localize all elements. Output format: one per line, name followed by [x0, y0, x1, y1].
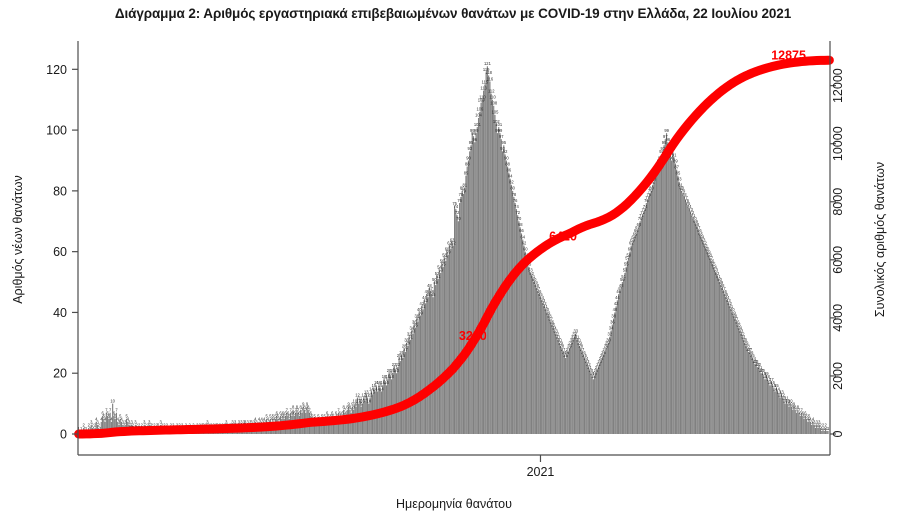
bar-value-label: 88	[505, 161, 510, 166]
bar	[721, 288, 722, 434]
bar	[475, 133, 476, 434]
bar	[430, 291, 431, 434]
bar	[518, 221, 519, 434]
bar	[715, 273, 716, 434]
bar	[603, 355, 604, 434]
bar	[405, 352, 406, 434]
bar-value-label: 33	[573, 329, 578, 334]
bar	[563, 352, 564, 434]
bar	[751, 355, 752, 434]
bar-value-label: 72	[515, 210, 520, 215]
bar-value-label: 34	[609, 325, 614, 330]
bar	[400, 361, 401, 434]
bar	[740, 334, 741, 434]
y-axis-right-tick-label: 10000	[831, 126, 845, 161]
bar	[629, 252, 630, 434]
bar-value-label: 60	[523, 246, 528, 251]
bar	[465, 176, 466, 434]
y-axis-left-tick-label: 80	[53, 184, 67, 198]
bar	[545, 309, 546, 434]
bar	[599, 364, 600, 434]
bar	[616, 306, 617, 434]
bar	[407, 346, 408, 434]
bar	[478, 118, 479, 434]
bar	[411, 331, 412, 434]
bar-value-label: 80	[649, 186, 654, 191]
y-axis-right-title-text: Συνολικός αριθμός θανάτων	[873, 162, 887, 317]
bar	[686, 203, 687, 434]
bar	[581, 352, 582, 434]
bar-value-label: 91	[672, 152, 677, 157]
bar	[720, 285, 721, 434]
bar	[739, 331, 740, 434]
bar-value-label: 81	[462, 183, 467, 188]
bar	[460, 197, 461, 434]
bar-value-label: 82	[509, 180, 514, 185]
bar	[551, 325, 552, 434]
bar	[451, 243, 452, 434]
bar	[531, 276, 532, 434]
bar	[792, 410, 793, 434]
bar-value-label: 16	[384, 380, 389, 385]
bar-value-label: 84	[508, 174, 513, 179]
bar	[613, 319, 614, 434]
bar	[627, 261, 628, 434]
bar	[580, 349, 581, 434]
bar	[762, 373, 763, 434]
bar-value-label: 85	[676, 170, 681, 175]
bar	[516, 209, 517, 434]
bar	[612, 325, 613, 434]
bar	[617, 300, 618, 434]
bar-value-label: 113	[480, 85, 487, 90]
bar-value-label: 104	[475, 113, 483, 118]
bar	[778, 394, 779, 434]
bar	[576, 340, 577, 434]
bar	[426, 294, 427, 434]
bar	[537, 291, 538, 434]
bar	[684, 197, 685, 434]
bar	[429, 288, 430, 434]
bar	[417, 322, 418, 434]
bar	[680, 188, 681, 434]
bar	[497, 133, 498, 434]
bar-value-label: 62	[451, 240, 456, 245]
bar	[446, 252, 447, 434]
bar	[685, 200, 686, 434]
bar	[776, 388, 777, 434]
bar	[590, 373, 591, 434]
bar-value-label: 38	[611, 313, 616, 318]
bar	[477, 127, 478, 434]
bar-value-label: 48	[619, 283, 624, 288]
bar	[701, 240, 702, 435]
bar	[679, 182, 680, 434]
bar	[667, 142, 668, 434]
bar	[772, 385, 773, 434]
bar	[633, 240, 634, 435]
bar	[708, 255, 709, 434]
x-axis-tick-label: 2021	[527, 465, 555, 479]
bar	[571, 343, 572, 434]
bar	[745, 346, 746, 434]
bar	[444, 258, 445, 434]
bar	[656, 173, 657, 434]
bar-value-label: 110	[479, 95, 486, 100]
bar	[459, 203, 460, 434]
bar	[390, 376, 391, 434]
bar	[453, 246, 454, 434]
bar-value-label: 80	[510, 186, 515, 191]
bar	[764, 379, 765, 434]
bar	[431, 294, 432, 434]
bar-value-label: 53	[623, 268, 628, 273]
bar-value-label: 79	[461, 189, 466, 194]
bar	[570, 346, 571, 434]
bar	[609, 337, 610, 434]
bar	[827, 431, 828, 434]
bar	[780, 398, 781, 434]
y-axis-left-tick-label: 40	[53, 306, 67, 320]
bar	[733, 315, 734, 434]
bar	[530, 273, 531, 434]
bar	[608, 343, 609, 434]
bar	[320, 425, 321, 434]
bar-value-label: 101	[495, 122, 503, 127]
bar	[648, 197, 649, 434]
bar	[793, 407, 794, 434]
bar	[494, 115, 495, 434]
bar-value-label: 33	[411, 329, 416, 334]
bar	[598, 367, 599, 434]
bar	[569, 349, 570, 434]
bar	[414, 325, 415, 434]
bar	[768, 382, 769, 434]
bar-value-label: 55	[624, 262, 629, 267]
bar	[574, 337, 575, 434]
bar	[646, 203, 647, 434]
bar-value-label: 110	[489, 95, 496, 100]
bar	[528, 267, 529, 434]
bar	[559, 343, 560, 434]
bar	[728, 303, 729, 434]
bar	[689, 209, 690, 434]
bar	[801, 413, 802, 434]
bar-value-label: 99	[498, 128, 503, 133]
bar	[642, 215, 643, 434]
bar	[492, 100, 493, 434]
chart-container: Διάγραμμα 2: Αριθμός εργαστηριακά επιβεβ…	[0, 0, 906, 528]
bar	[458, 221, 459, 434]
bar	[696, 227, 697, 434]
bar	[748, 352, 749, 434]
bar	[406, 343, 407, 434]
y-axis-right-tick-label: 0	[831, 430, 845, 437]
bar	[542, 303, 543, 434]
bar	[795, 410, 796, 434]
bar	[643, 212, 644, 434]
bar-value-label: 72	[455, 210, 460, 215]
bar	[556, 337, 557, 434]
bar	[507, 167, 508, 434]
bar	[410, 340, 411, 434]
bar	[474, 142, 475, 434]
bar	[568, 352, 569, 434]
bar	[585, 361, 586, 434]
bar-value-label: 39	[418, 310, 423, 315]
bar	[724, 294, 725, 434]
bar	[419, 312, 420, 434]
bar	[665, 139, 666, 434]
bar	[541, 300, 542, 434]
bar	[754, 364, 755, 434]
y-axis-left-tick-label: 20	[53, 367, 67, 381]
bar-value-label: 53	[438, 268, 443, 273]
bar	[622, 282, 623, 434]
bar	[798, 413, 799, 434]
bar	[404, 349, 405, 434]
bar	[645, 209, 646, 434]
bar	[434, 282, 435, 434]
bar	[719, 282, 720, 434]
bar	[605, 349, 606, 434]
bar	[565, 358, 566, 434]
bar	[650, 194, 651, 434]
y-axis-right-tick-label: 4000	[831, 304, 845, 332]
bar	[584, 358, 585, 434]
bar-value-label: 108	[490, 101, 498, 106]
bar	[624, 273, 625, 434]
bar	[440, 273, 441, 434]
y-axis-right-tick-label: 2000	[831, 362, 845, 390]
bar	[785, 404, 786, 434]
bar	[506, 160, 507, 434]
bar	[510, 179, 511, 434]
bar	[578, 343, 579, 434]
bar-value-label: 86	[507, 167, 512, 172]
bar-value-label: 10	[110, 398, 115, 403]
bar	[473, 136, 474, 434]
bar-value-label: 121	[484, 61, 492, 66]
bar-value-label: 55	[441, 262, 446, 267]
bar	[652, 185, 653, 434]
bar-value-label: 96	[473, 137, 478, 142]
bar	[671, 160, 672, 434]
bar-value-label: 29	[406, 341, 411, 346]
bar-value-label: 76	[457, 198, 462, 203]
bar	[657, 167, 658, 434]
bar	[498, 127, 499, 434]
bar	[422, 309, 423, 434]
bar	[513, 197, 514, 434]
bar	[676, 170, 677, 434]
bar	[448, 255, 449, 434]
bar	[815, 428, 816, 434]
y-axis-left-tick-label: 0	[60, 428, 67, 442]
bar-value-label: 116	[487, 76, 494, 81]
bar-value-label: 42	[614, 301, 619, 306]
bar	[804, 419, 805, 434]
bar	[661, 154, 662, 434]
bar	[484, 85, 485, 434]
bar	[525, 252, 526, 434]
bar	[544, 306, 545, 434]
bar-value-label: 68	[637, 222, 642, 227]
bar	[682, 194, 683, 434]
bar	[561, 349, 562, 434]
bar	[690, 212, 691, 434]
bar	[670, 154, 671, 434]
bar	[395, 370, 396, 434]
bar-value-label: 7	[109, 408, 112, 413]
bar	[767, 379, 768, 434]
bar	[443, 267, 444, 434]
bar	[527, 264, 528, 434]
bar	[638, 227, 639, 434]
bar-value-label: 66	[519, 228, 524, 233]
bar	[579, 346, 580, 434]
bar-value-label: 76	[513, 198, 518, 203]
bar	[573, 340, 574, 434]
bar	[655, 176, 656, 434]
bar-value-label: 64	[520, 234, 525, 239]
bar	[604, 352, 605, 434]
bar-value-label: 118	[485, 70, 492, 75]
bar	[700, 236, 701, 434]
bar	[566, 355, 567, 434]
bar-value-label: 30	[606, 338, 611, 343]
bar-value-label: 99	[664, 128, 669, 133]
bar	[677, 176, 678, 434]
bar	[666, 133, 667, 434]
bar-value-label: 25	[401, 353, 406, 358]
bar	[435, 285, 436, 434]
bar-value-label: 92	[503, 149, 508, 154]
bar	[742, 337, 743, 434]
bar	[669, 148, 670, 434]
cumulative-annotation-label: 3240	[459, 329, 487, 343]
bar	[597, 370, 598, 434]
bar	[781, 394, 782, 434]
bar	[817, 428, 818, 434]
y-axis-left-title-text: Αριθμός νέων θανάτων	[11, 175, 25, 304]
bar	[734, 319, 735, 434]
bar-value-label: 43	[423, 298, 428, 303]
bar	[517, 215, 518, 434]
bar	[639, 221, 640, 434]
bar	[826, 431, 827, 434]
bar	[699, 233, 700, 434]
bar	[774, 391, 775, 434]
bar-value-label: 90	[466, 155, 471, 160]
bar	[392, 373, 393, 434]
bar	[763, 376, 764, 434]
bar	[449, 246, 450, 434]
bar	[791, 407, 792, 434]
y-axis-left-tick-label: 60	[53, 245, 67, 259]
bar	[420, 315, 421, 434]
bar	[714, 270, 715, 434]
bar-value-label: 37	[416, 316, 421, 321]
bar	[610, 331, 611, 434]
bar	[489, 81, 490, 434]
bar	[787, 404, 788, 434]
bar	[773, 388, 774, 434]
bar-value-label: 93	[467, 146, 472, 151]
bar	[602, 358, 603, 434]
bar	[463, 194, 464, 434]
bar	[593, 379, 594, 434]
bar	[481, 103, 482, 434]
bar	[710, 261, 711, 434]
bar	[575, 334, 576, 434]
bar	[723, 291, 724, 434]
bar-value-label: 95	[502, 140, 507, 145]
bar	[491, 94, 492, 434]
bar	[488, 75, 489, 434]
bar-value-label: 36	[610, 319, 615, 324]
bar	[694, 221, 695, 434]
bar	[594, 376, 595, 434]
bar	[769, 385, 770, 434]
bar	[662, 151, 663, 434]
bar	[439, 270, 440, 434]
bar	[800, 416, 801, 434]
bar	[647, 200, 648, 434]
bar	[424, 300, 425, 434]
bar-value-label: 35	[413, 322, 418, 327]
bar	[520, 227, 521, 434]
bar	[727, 300, 728, 434]
bar	[482, 100, 483, 434]
bar	[681, 191, 682, 434]
bar	[735, 322, 736, 434]
bar	[412, 334, 413, 434]
bar	[450, 249, 451, 434]
bar-value-label: 70	[456, 216, 461, 221]
bar	[674, 157, 675, 434]
bar	[469, 151, 470, 434]
bar	[493, 106, 494, 434]
bar-value-label: 32	[608, 332, 613, 337]
bar-value-label: 112	[488, 88, 495, 93]
bar	[526, 258, 527, 434]
bar	[586, 364, 587, 434]
bar-value-label: 101	[474, 122, 482, 127]
bar	[675, 164, 676, 434]
bar-value-label: 14	[379, 386, 384, 391]
bar	[771, 382, 772, 434]
bar	[695, 224, 696, 434]
bar	[425, 303, 426, 434]
bar	[547, 315, 548, 434]
bar	[546, 312, 547, 434]
chart-plot: 1121121321243214654765741065743543235432…	[0, 0, 906, 528]
bar	[811, 425, 812, 434]
bar	[595, 373, 596, 434]
bar	[428, 297, 429, 434]
bar	[549, 319, 550, 434]
bar-value-label: 45	[431, 292, 436, 297]
bar	[729, 306, 730, 434]
bar	[583, 355, 584, 434]
bar-value-label: 44	[615, 295, 620, 300]
bar	[687, 206, 688, 434]
bar-value-label: 58	[626, 253, 631, 258]
bar	[703, 243, 704, 434]
bar	[628, 258, 629, 434]
bar	[401, 355, 402, 434]
